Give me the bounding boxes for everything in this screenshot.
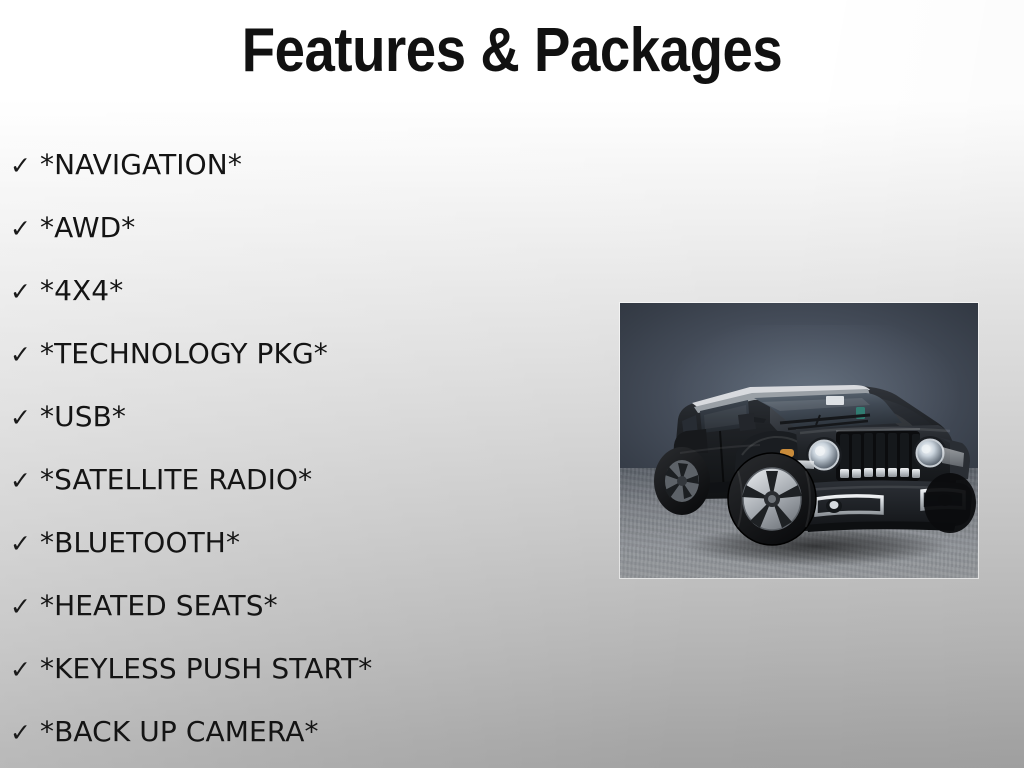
check-icon: ✓ — [10, 512, 40, 575]
list-item: ✓ *AWD* — [10, 196, 610, 259]
list-item: ✓ *4X4* — [10, 259, 610, 322]
feature-label: *BLUETOOTH* — [40, 511, 240, 574]
page-title: Features & Packages — [61, 18, 962, 83]
slide: Features & Packages ✓ *NAVIGATION* ✓ *AW… — [0, 0, 1024, 768]
feature-label: *NAVIGATION* — [40, 133, 242, 196]
vehicle-photo — [620, 303, 978, 578]
feature-label: *4X4* — [40, 259, 123, 322]
list-item: ✓ *NAVIGATION* — [10, 133, 610, 196]
check-icon: ✓ — [10, 134, 40, 197]
check-icon: ✓ — [10, 260, 40, 323]
list-item: ✓ *KEYLESS PUSH START* — [10, 637, 610, 700]
feature-label: *BACK UP CAMERA* — [40, 700, 319, 763]
check-icon: ✓ — [10, 449, 40, 512]
list-item: ✓ *USB* — [10, 385, 610, 448]
check-icon: ✓ — [10, 638, 40, 701]
feature-label: *USB* — [40, 385, 126, 448]
feature-label: *HEATED SEATS* — [40, 574, 278, 637]
feature-label: *TECHNOLOGY PKG* — [40, 322, 328, 385]
check-icon: ✓ — [10, 323, 40, 386]
jeep-wrangler-illustration — [620, 303, 978, 578]
feature-label: *AWD* — [40, 196, 135, 259]
list-item: ✓ *BACK UP CAMERA* — [10, 700, 610, 763]
check-icon: ✓ — [10, 386, 40, 449]
features-list: ✓ *NAVIGATION* ✓ *AWD* ✓ *4X4* ✓ *TECHNO… — [10, 133, 610, 763]
feature-label: *SATELLITE RADIO* — [40, 448, 312, 511]
list-item: ✓ *BLUETOOTH* — [10, 511, 610, 574]
check-icon: ✓ — [10, 197, 40, 260]
check-icon: ✓ — [10, 575, 40, 638]
list-item: ✓ *SATELLITE RADIO* — [10, 448, 610, 511]
list-item: ✓ *HEATED SEATS* — [10, 574, 610, 637]
check-icon: ✓ — [10, 701, 40, 764]
list-item: ✓ *TECHNOLOGY PKG* — [10, 322, 610, 385]
feature-label: *KEYLESS PUSH START* — [40, 637, 372, 700]
